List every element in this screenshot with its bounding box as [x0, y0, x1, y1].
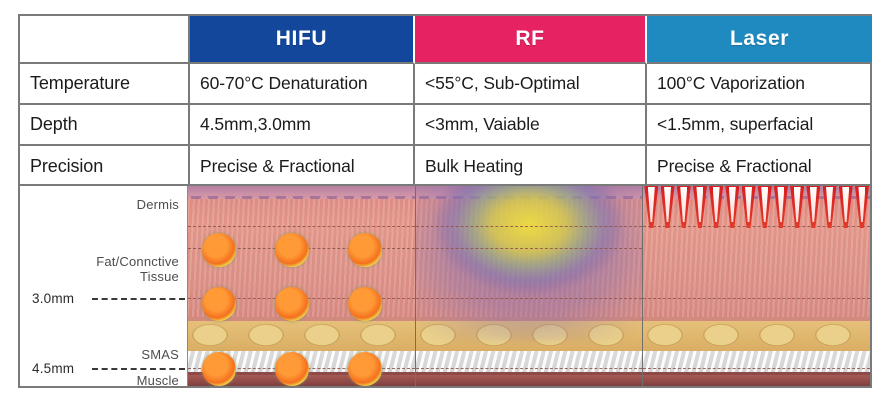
cell-temperature-hifu: 60-70°C Denaturation [190, 64, 415, 105]
cell-depth-laser: <1.5mm, superfacial [647, 105, 872, 146]
muscle-layer [416, 372, 643, 386]
diagram-legend-column: Dermis Fat/Connctive Tissue 3.0mm SMAS 4… [20, 186, 188, 386]
hifu-focal-point [275, 287, 309, 321]
cell-precision-rf: Bulk Heating [415, 146, 647, 186]
dermis-layer [416, 199, 643, 317]
hifu-focal-point [348, 233, 382, 267]
legend-label-dermis: Dermis [137, 198, 179, 213]
hifu-focal-point [202, 352, 236, 386]
hifu-focal-point [202, 233, 236, 267]
rf-skin-panel [416, 186, 644, 386]
dermis-dashed-line-1 [188, 226, 415, 227]
fat-lobules [643, 319, 870, 353]
table-corner-cell [20, 16, 190, 64]
fat-lobules [416, 319, 643, 353]
depth-marker-3mm: 3.0mm [32, 291, 74, 306]
row-label-depth: Depth [20, 105, 190, 146]
dermis-dashed-line-1 [416, 226, 643, 227]
column-header-laser: Laser [647, 16, 872, 64]
hifu-focal-point [275, 233, 309, 267]
smas-layer [416, 351, 643, 373]
column-header-hifu: HIFU [190, 16, 415, 64]
depth-line-4-5mm [92, 368, 185, 370]
dermis-layer [643, 199, 870, 317]
comparison-infographic: HIFU RF Laser Temperature 60-70°C Denatu… [0, 0, 890, 403]
muscle-dashed-line [643, 368, 870, 369]
cell-depth-hifu: 4.5mm,3.0mm [190, 105, 415, 146]
row-label-temperature: Temperature [20, 64, 190, 105]
dermis-dashed-line-3 [416, 298, 643, 299]
cell-precision-laser: Precise & Fractional [647, 146, 872, 186]
legend-label-smas: SMAS [141, 348, 179, 363]
muscle-layer [643, 372, 870, 386]
skin-cross-section-diagram: Dermis Fat/Connctive Tissue 3.0mm SMAS 4… [18, 186, 872, 388]
cell-temperature-rf: <55°C, Sub-Optimal [415, 64, 647, 105]
cell-depth-rf: <3mm, Vaiable [415, 105, 647, 146]
smas-layer [643, 351, 870, 373]
dermis-dashed-line-3 [643, 298, 870, 299]
depth-marker-4-5mm: 4.5mm [32, 361, 74, 376]
fat-lobules [188, 319, 415, 353]
hifu-focal-point [348, 287, 382, 321]
legend-label-fat-connective-tissue: Fat/Connctive Tissue [59, 255, 179, 284]
muscle-dashed-line [416, 368, 643, 369]
dermis-dashed-line-1 [643, 226, 870, 227]
hifu-focal-point [202, 287, 236, 321]
depth-line-3mm [92, 298, 185, 300]
cell-precision-hifu: Precise & Fractional [190, 146, 415, 186]
row-label-precision: Precision [20, 146, 190, 186]
hifu-focal-point [275, 352, 309, 386]
column-header-rf: RF [415, 16, 647, 64]
hifu-skin-panel [188, 186, 416, 386]
comparison-table: HIFU RF Laser Temperature 60-70°C Denatu… [18, 14, 872, 186]
cell-temperature-laser: 100°C Vaporization [647, 64, 872, 105]
hifu-focal-point [348, 352, 382, 386]
legend-label-muscle: Muscle [137, 374, 179, 388]
dermis-dashed-line-2 [416, 248, 643, 249]
laser-skin-panel [643, 186, 870, 386]
